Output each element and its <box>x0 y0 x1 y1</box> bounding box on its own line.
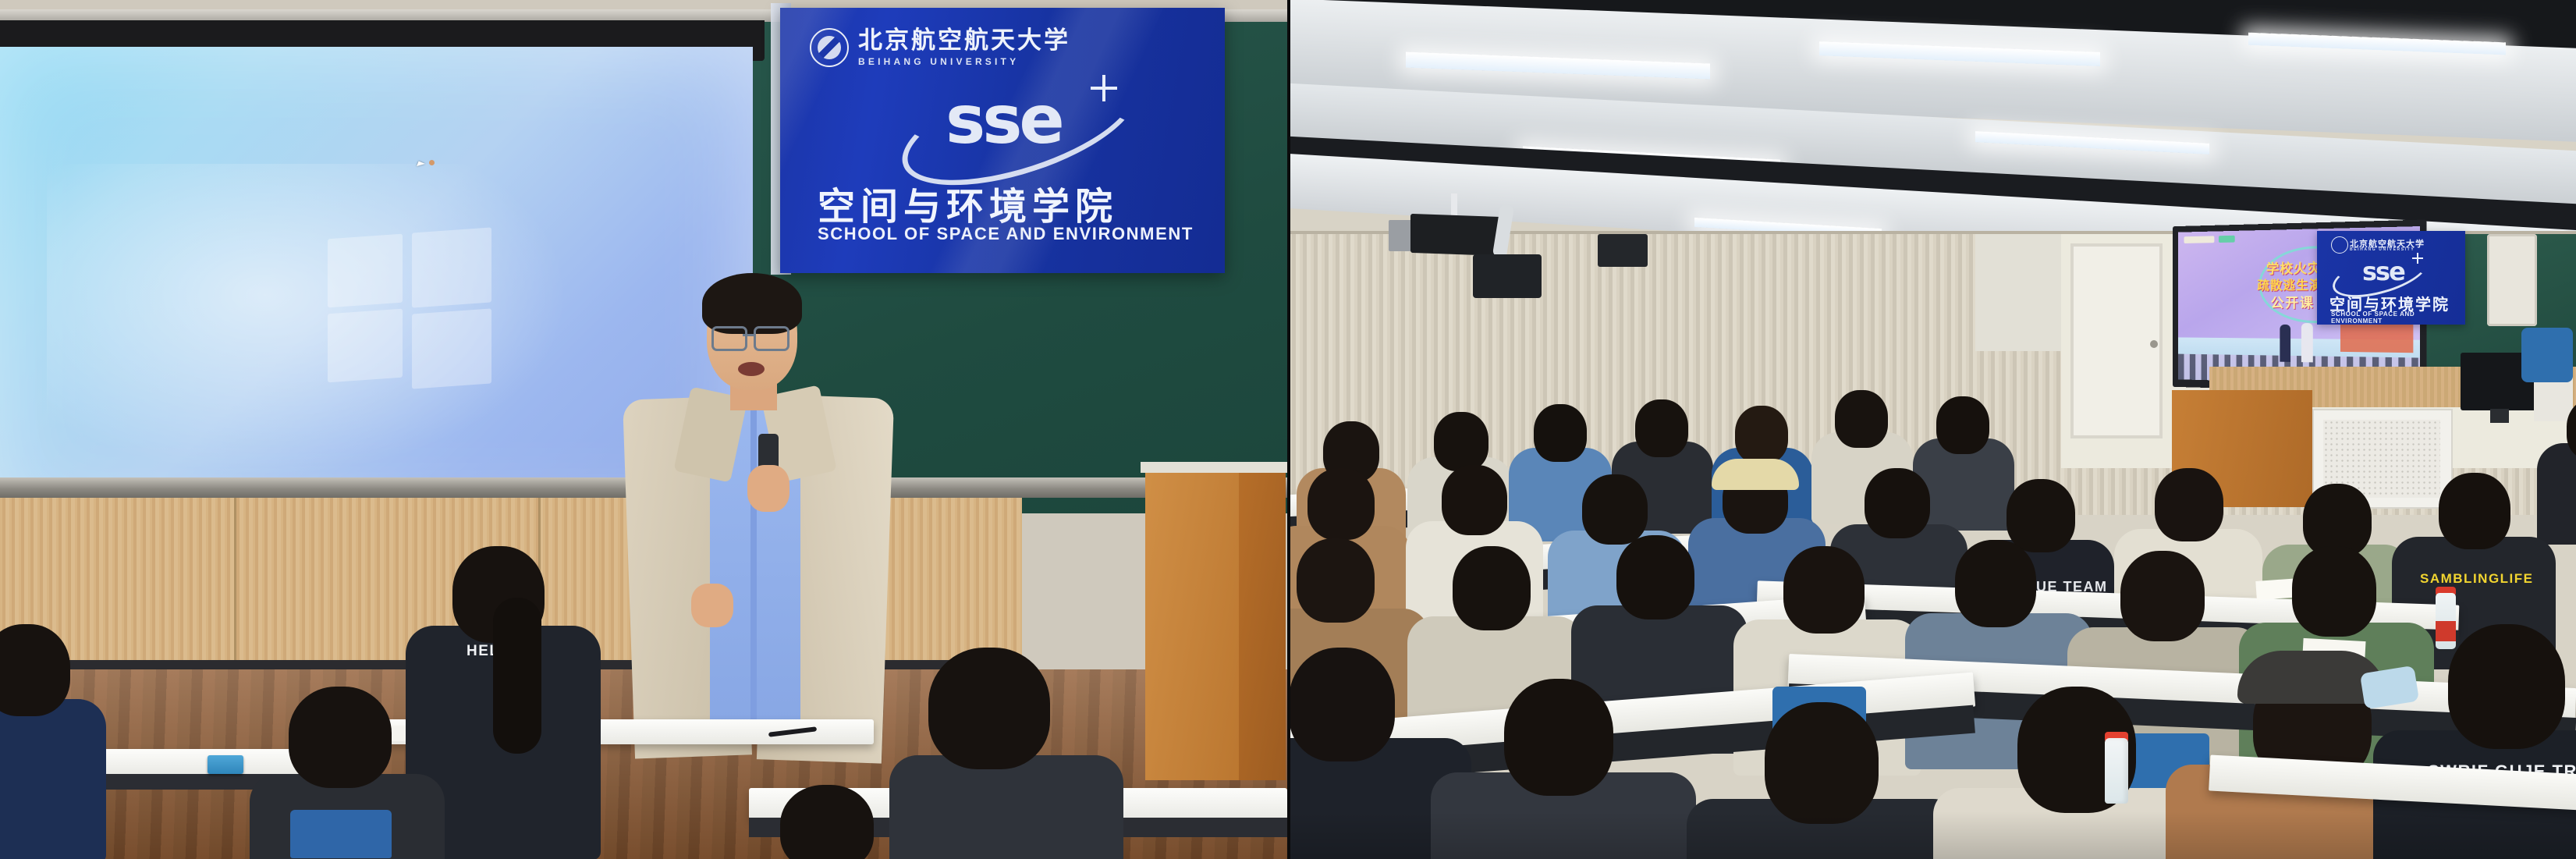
slide-badge <box>2219 236 2235 243</box>
student-head <box>1289 648 1395 761</box>
student-seated <box>1593 535 1733 676</box>
lectern-top <box>1141 462 1289 473</box>
banner-school-en: SCHOOL OF SPACE AND ENVIRONMENT <box>818 224 1194 244</box>
lecturer-hand-right <box>747 465 789 512</box>
slide-figure <box>2280 325 2290 362</box>
student-seated <box>2553 398 2576 492</box>
student-torso <box>0 699 106 859</box>
classroom-chair <box>290 810 392 858</box>
student-seated <box>0 624 94 859</box>
eyeglasses-right-lens-icon <box>754 326 789 351</box>
student-head <box>1504 679 1613 796</box>
banner-school-cn: 空间与环境学院 <box>818 176 1118 230</box>
smartphone <box>208 755 243 774</box>
student-head <box>1308 468 1375 540</box>
bottom-vignette <box>1289 811 2576 859</box>
wainscot-seam <box>234 498 236 669</box>
lecturer <box>624 281 882 749</box>
student-head <box>1955 540 2036 627</box>
student-head <box>928 648 1050 769</box>
student-torso <box>889 755 1123 859</box>
banner-school-en: SCHOOL OF SPACE AND ENVIRONMENT <box>2331 311 2465 325</box>
student-head <box>1616 535 1694 619</box>
slide-title-line3: 公开课 <box>2271 292 2315 311</box>
lectern-front-panel <box>1145 465 1239 780</box>
student-head <box>1635 399 1688 457</box>
shirt-placket <box>750 406 757 733</box>
lecturer-hair <box>702 273 802 334</box>
eyeglasses-bridge-icon <box>743 334 754 336</box>
student-head <box>1442 465 1507 535</box>
student-head <box>2448 624 2565 749</box>
student-head <box>1765 702 1879 824</box>
student-seated <box>905 648 1108 859</box>
classroom-door <box>2070 243 2163 438</box>
student-ponytail <box>493 598 541 754</box>
student-seated <box>1429 546 1570 687</box>
university-seal-icon <box>810 28 849 67</box>
windows-logo-icon <box>328 230 491 386</box>
university-seal-icon <box>2331 236 2348 254</box>
student-head <box>1865 468 1930 538</box>
banner-university-en: BEIHANG UNIVERSITY <box>858 56 1070 67</box>
wall-panel <box>1975 234 2069 351</box>
eyeglasses-left-lens-icon <box>711 326 747 351</box>
panel-divider <box>1287 0 1290 859</box>
student-head <box>1582 474 1648 545</box>
bottle-label <box>2436 621 2456 641</box>
baseball-cap <box>1712 459 1799 490</box>
jacket-text: SAMBLINGLIFE <box>2420 571 2534 587</box>
student-head <box>1735 406 1788 463</box>
lecturer-hand-left <box>691 584 733 627</box>
star-icon <box>1091 75 1117 101</box>
student-head <box>2120 551 2205 641</box>
lecturer-mouth <box>738 362 765 376</box>
door-handle <box>2150 340 2158 348</box>
photo-composite: 北京航空航天大学 BEIHANG UNIVERSITY sse 空间与环境学院 … <box>0 0 2576 859</box>
slide-figure <box>2301 323 2313 362</box>
student-head <box>2439 473 2510 549</box>
ceiling-projector <box>1410 214 1503 256</box>
student-head <box>1434 412 1488 471</box>
water-bottle <box>2105 738 2128 804</box>
monitor-stand <box>2490 409 2509 423</box>
screen-glow <box>47 164 593 492</box>
sse-banner: 北京航空航天大学 BEIHANG UNIVERSITY sse 空间与环境学院 … <box>780 8 1225 273</box>
student-head <box>2155 468 2223 541</box>
banner-logo-text: sse <box>946 91 1062 151</box>
student-seated: SAMBLINGLIFE <box>2412 473 2545 605</box>
sse-logo: sse <box>897 80 1155 165</box>
star-icon <box>2412 253 2423 264</box>
student-head <box>1783 546 1865 634</box>
sse-banner: 北京航空航天大学 BEIHANG UNIVERSITY sse 空间与环境学院 … <box>2317 231 2465 325</box>
student-head <box>1835 390 1888 448</box>
right-photo-panel: 学校火灾 疏散逃生演练 公开课 北京航空航天大学 BEIHANG UNIVERS… <box>1289 0 2576 859</box>
ceiling-speaker <box>1473 254 1542 298</box>
screen-hotspot <box>429 160 435 165</box>
student-head <box>1297 538 1375 623</box>
student-head <box>0 624 70 716</box>
student-head <box>289 687 392 788</box>
slide-badge <box>2184 236 2214 243</box>
student-head <box>1453 546 1531 630</box>
wall-speaker <box>2487 234 2537 326</box>
classroom-chair <box>2521 328 2573 382</box>
banner-university-cn: 北京航空航天大学 <box>858 29 1070 53</box>
student-head <box>780 785 874 859</box>
student-head <box>1936 396 1989 454</box>
banner-logo-text: sse <box>2362 259 2404 284</box>
student-head <box>1534 404 1587 462</box>
ceiling-speaker <box>1598 234 1648 267</box>
student-head <box>2292 546 2376 637</box>
banner-university-block: 北京航空航天大学 BEIHANG UNIVERSITY <box>810 28 1070 67</box>
student-seated <box>765 785 897 859</box>
left-photo-panel: 北京航空航天大学 BEIHANG UNIVERSITY sse 空间与环境学院 … <box>0 0 1289 859</box>
